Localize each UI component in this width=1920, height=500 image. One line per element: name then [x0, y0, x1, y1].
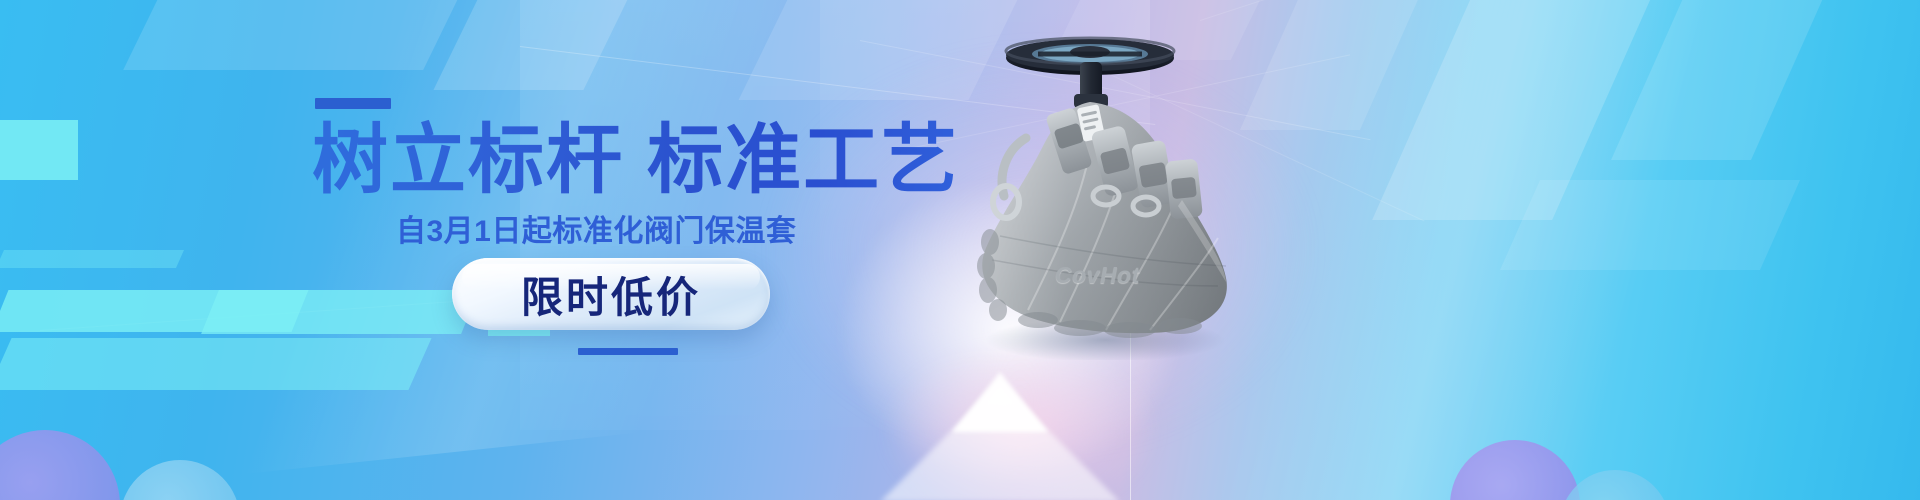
- limited-time-price-button[interactable]: 限时低价: [452, 258, 770, 330]
- promo-banner: 树立标杆 标准工艺 自3月1日起标准化阀门保温套 限时低价: [0, 0, 1920, 500]
- product-brand-label: CovHot: [1055, 262, 1140, 289]
- product-image: CovHot: [930, 10, 1270, 360]
- cta-button-label: 限时低价: [521, 264, 701, 325]
- banner-text-block: 树立标杆 标准工艺 自3月1日起标准化阀门保温套 限时低价: [0, 0, 960, 500]
- bottom-triangle-core: [952, 372, 1048, 432]
- underline-dash-icon: [578, 348, 678, 355]
- banner-subtitle: 自3月1日起标准化阀门保温套: [396, 214, 796, 250]
- accent-dash-icon: [315, 98, 391, 109]
- background-shard: [1500, 180, 1800, 270]
- background-shard: [1611, 0, 1849, 160]
- banner-headline: 树立标杆 标准工艺: [312, 118, 959, 204]
- decorative-circle: [1450, 440, 1580, 500]
- valve-insulation-jacket-icon: [930, 10, 1270, 360]
- decorative-circle: [1560, 470, 1670, 500]
